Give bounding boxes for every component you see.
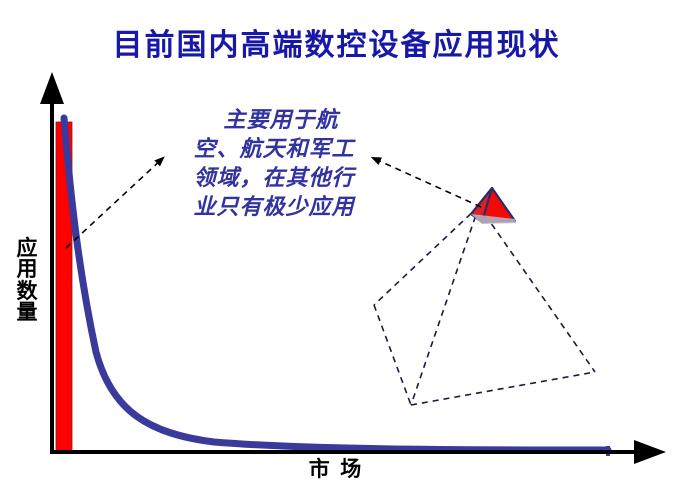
annotation-line: 业只有极少应用 [168,192,380,221]
wireframe-base-front [411,372,595,405]
slide-canvas: 目前国内高端数控设备应用现状 [0,0,673,497]
y-axis-label-char: 数 [10,281,44,302]
annotation-line: 主要用于航 [168,105,380,134]
wireframe-base-left [374,305,411,405]
annotation-line: 领域，在其他行 [168,163,380,192]
chart-figure [0,0,673,497]
y-axis-label-char: 量 [10,302,44,323]
wireframe-pyramid [374,206,595,405]
y-axis-label-char: 用 [10,259,44,280]
annotation-text: 主要用于航 空、航天和军工 领域，在其他行 业只有极少应用 [168,105,380,221]
leader-arrow-to-pyramid [373,158,481,207]
annotation-line: 空、航天和军工 [168,134,380,163]
wireframe-edge-front [411,206,479,405]
leader-arrow-to-bar [66,158,163,248]
x-axis-label: 市 场 [265,453,405,483]
y-axis-label: 应 用 数 量 [10,238,44,324]
y-axis-label-char: 应 [10,238,44,259]
wireframe-edge-left [374,206,479,305]
wireframe-edge-right [479,206,595,372]
